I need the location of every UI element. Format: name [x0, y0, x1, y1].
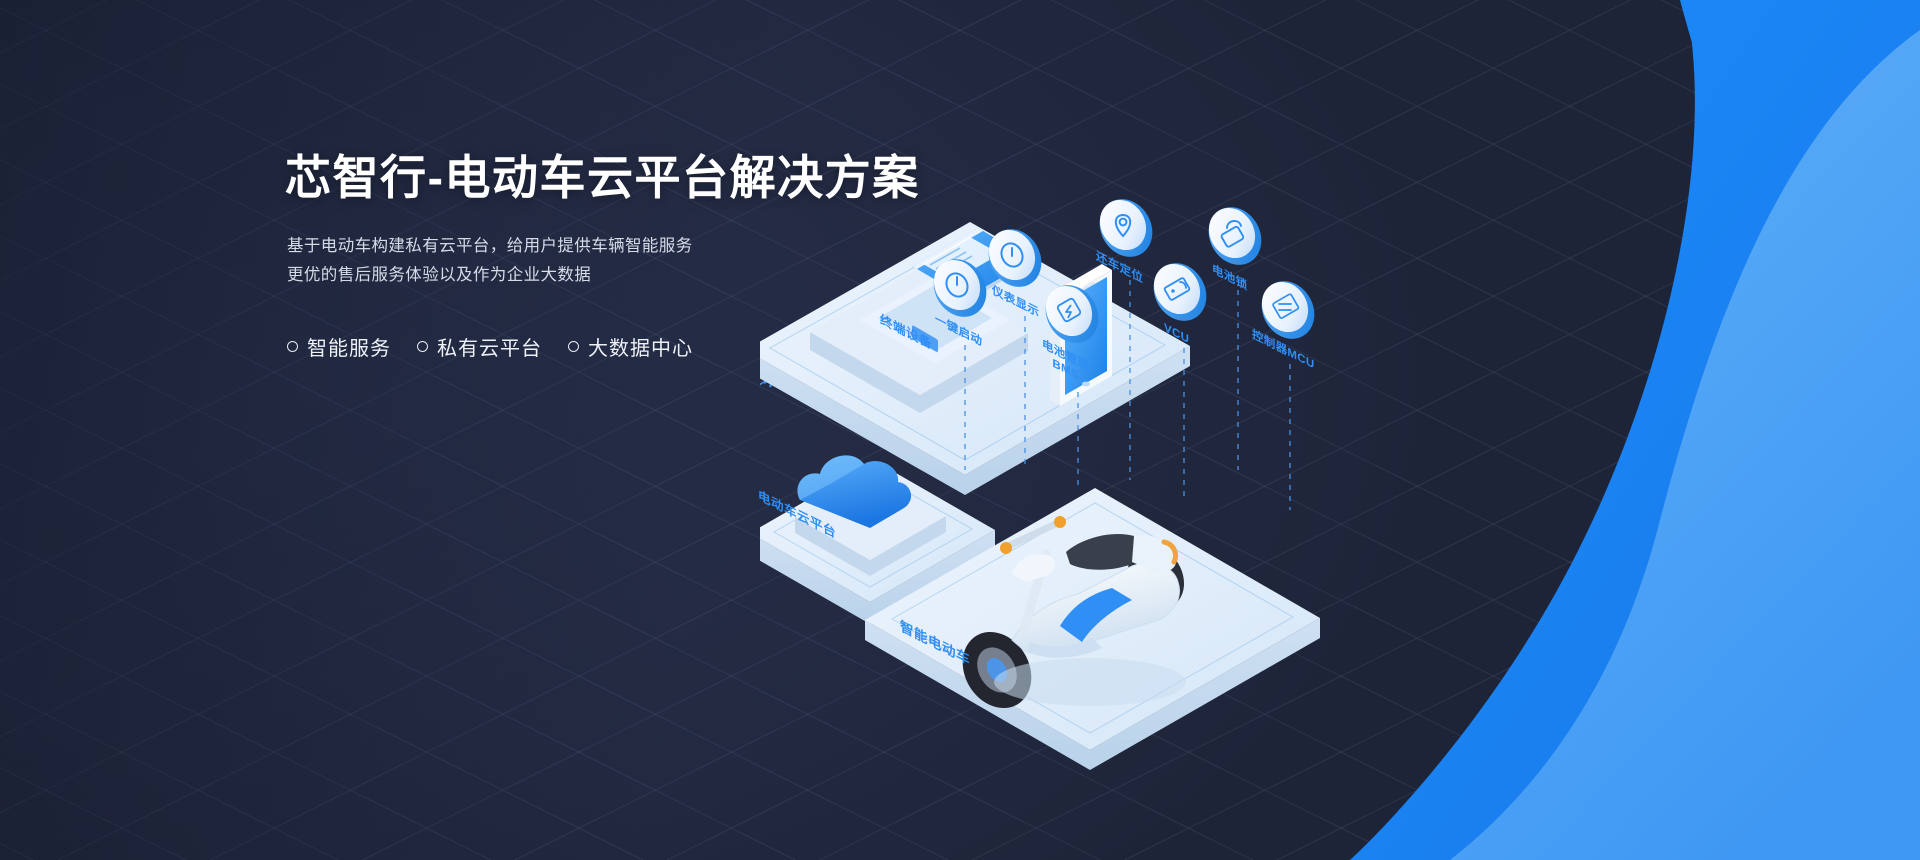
hero-subtitle-line-2: 更优的售后服务体验以及作为企业大数据	[287, 261, 807, 290]
hero-tag-1: 私有云平台	[417, 332, 542, 361]
badge-5-电池锁	[1198, 198, 1271, 275]
circle-outline-icon	[287, 341, 298, 352]
badge-4-VCU	[1143, 254, 1216, 331]
isometric-illustration: 终端设备 电动车云平台 智能电动车 一键启动 仪表显示 电池管理 BMS 还车定…	[760, 170, 1880, 830]
hero-tag-label-2: 大数据中心	[588, 332, 693, 361]
hero-tag-2: 大数据中心	[568, 332, 693, 361]
scooter-shadow	[994, 658, 1186, 706]
scooter-left-indicator	[1000, 542, 1012, 554]
hero-subtitle: 基于电动车构建私有云平台，给用户提供车辆智能服务 更优的售后服务体验以及作为企业…	[287, 232, 807, 290]
platform-terminal	[760, 222, 1190, 495]
circle-outline-icon	[568, 341, 579, 352]
hero-tag-label-1: 私有云平台	[437, 332, 542, 361]
hero-banner: 芯智行-电动车云平台解决方案 基于电动车构建私有云平台，给用户提供车辆智能服务 …	[0, 0, 1920, 860]
badge-6-控制器MCU	[1251, 272, 1324, 349]
badge-3-还车定位	[1089, 190, 1162, 267]
scooter-right-indicator	[1054, 516, 1066, 528]
hero-tag-label-0: 智能服务	[307, 332, 391, 361]
hero-tag-0: 智能服务	[287, 332, 391, 361]
hero-subtitle-line-1: 基于电动车构建私有云平台，给用户提供车辆智能服务	[287, 232, 807, 261]
circle-outline-icon	[417, 341, 428, 352]
